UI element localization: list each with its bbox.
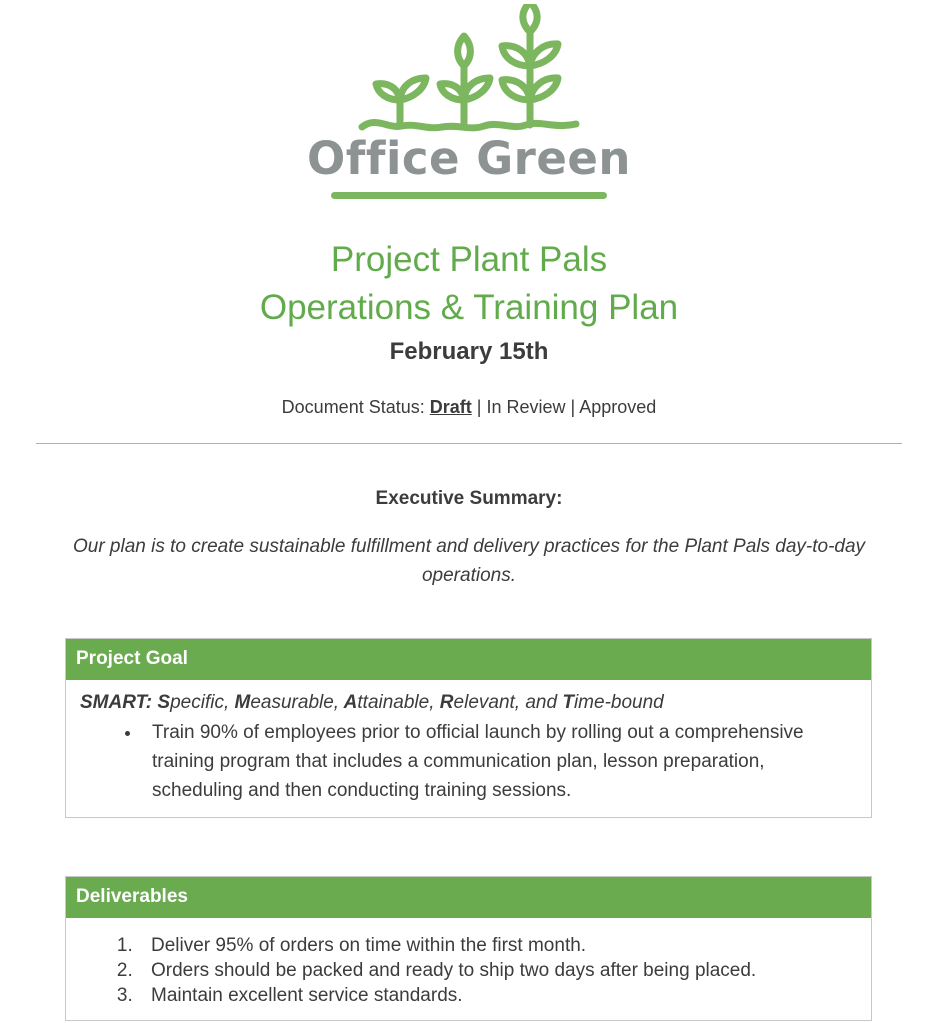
smart-parts: Specific, Measurable, Attainable, Releva… xyxy=(157,692,663,713)
deliverables-numbered-list: Deliver 95% of orders on time within the… xyxy=(78,933,859,1008)
project-goal-bullet-list: Train 90% of employees prior to official… xyxy=(78,718,859,805)
deliverables-header: Deliverables xyxy=(66,877,871,918)
document-date: February 15th xyxy=(0,338,938,366)
brand-underline xyxy=(331,192,607,199)
header-divider xyxy=(36,443,902,444)
status-option-approved[interactable]: Approved xyxy=(579,397,656,417)
title-line-2: Operations & Training Plan xyxy=(0,284,938,332)
status-separator-1: | xyxy=(477,397,482,417)
three-growing-plants-icon xyxy=(354,4,584,140)
document-page: Office Green Project Plant Pals Operatio… xyxy=(0,0,938,1023)
brand-wordmark: Office Green xyxy=(0,136,938,181)
status-option-in-review[interactable]: In Review xyxy=(487,397,566,417)
document-status: Document Status: Draft | In Review | App… xyxy=(0,397,938,418)
list-item: Maintain excellent service standards. xyxy=(138,983,859,1008)
list-item: Train 90% of employees prior to official… xyxy=(142,718,859,805)
list-item: Deliver 95% of orders on time within the… xyxy=(138,933,859,958)
executive-summary-body: Our plan is to create sustainable fulfil… xyxy=(30,532,908,590)
smart-prefix: SMART: xyxy=(80,692,152,713)
executive-summary-heading: Executive Summary: xyxy=(0,488,938,510)
project-goal-body: SMART: Specific, Measurable, Attainable,… xyxy=(66,680,871,817)
smart-definition: SMART: Specific, Measurable, Attainable,… xyxy=(80,690,859,716)
status-separator-2: | xyxy=(571,397,576,417)
deliverables-table: Deliverables Deliver 95% of orders on ti… xyxy=(65,876,872,1021)
title-line-1: Project Plant Pals xyxy=(0,236,938,284)
status-label: Document Status: xyxy=(282,397,425,417)
status-option-draft[interactable]: Draft xyxy=(430,397,472,417)
brand-logo: Office Green xyxy=(0,0,938,199)
project-goal-header: Project Goal xyxy=(66,639,871,680)
deliverables-body: Deliver 95% of orders on time within the… xyxy=(66,918,871,1020)
page-title: Project Plant Pals Operations & Training… xyxy=(0,236,938,332)
project-goal-table: Project Goal SMART: Specific, Measurable… xyxy=(65,638,872,818)
list-item: Orders should be packed and ready to shi… xyxy=(138,958,859,983)
